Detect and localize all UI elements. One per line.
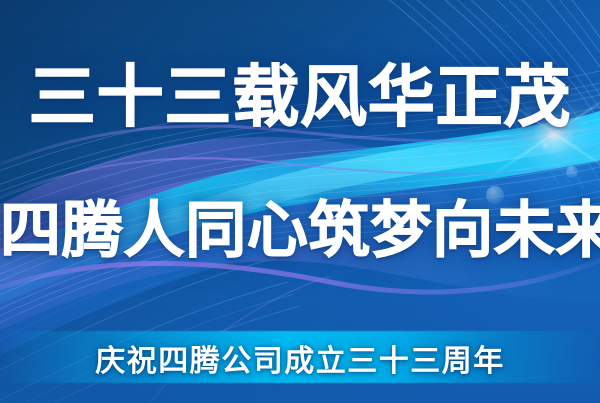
subtitle-text: 庆祝四腾公司成立三十三周年 xyxy=(0,336,600,380)
bokeh-dot-icon xyxy=(566,166,578,178)
headline-line-1: 三十三载风华正茂 xyxy=(0,64,600,131)
anniversary-banner: 三十三载风华正茂 四腾人同心筑梦向未来 庆祝四腾公司成立三十三周年 xyxy=(0,0,600,403)
headline-line-2: 四腾人同心筑梦向未来 xyxy=(0,200,600,261)
bokeh-dot-icon xyxy=(542,142,550,150)
